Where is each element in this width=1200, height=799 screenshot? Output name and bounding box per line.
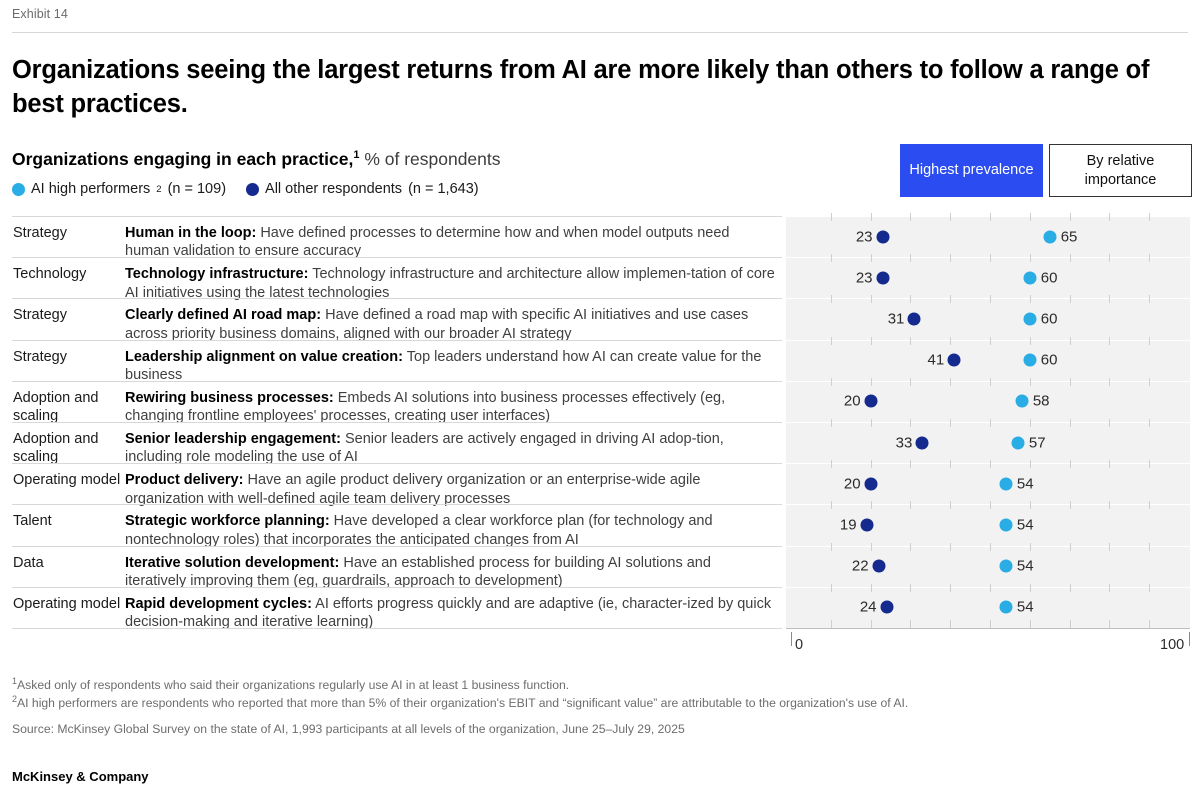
- chart-gridline-tick: [1070, 295, 1071, 303]
- chart-gridline-tick: [950, 254, 951, 262]
- subtitle-rest: % of respondents: [359, 149, 500, 169]
- source-line: Source: McKinsey Global Survey on the st…: [12, 722, 685, 736]
- dot-value-ai-high-performers: 60: [1041, 352, 1058, 369]
- legend-ai-high-performers: AI high performers2 (n = 109): [12, 181, 226, 197]
- chart-gridline-tick: [910, 501, 911, 509]
- row-practice-title: Human in the loop:: [125, 225, 256, 241]
- chart-gridline-tick: [910, 254, 911, 262]
- chart-gridline-tick: [1109, 584, 1110, 592]
- chart-gridline-tick: [871, 295, 872, 303]
- chart-gridline-tick: [1109, 501, 1110, 509]
- chart-gridline-tick: [950, 584, 951, 592]
- dot-value-all-other-respondents: 19: [797, 517, 857, 534]
- dot-value-ai-high-performers: 65: [1061, 228, 1078, 245]
- row-practice-title: Senior leadership engagement:: [125, 431, 341, 447]
- row-practice-title: Strategic workforce planning:: [125, 513, 330, 529]
- row-practice-title: Leadership alignment on value creation:: [125, 349, 403, 365]
- table-row[interactable]: Adoption and scalingSenior leadership en…: [12, 422, 782, 463]
- dot-ai-high-performers[interactable]: [1023, 313, 1036, 326]
- row-description: Senior leadership engagement: Senior lea…: [125, 430, 782, 467]
- chart-gridline-tick: [910, 378, 911, 386]
- dot-ai-high-performers[interactable]: [999, 519, 1012, 532]
- chart-gridline-tick: [1149, 584, 1150, 592]
- view-toggle-group: Highest prevalence By relative importanc…: [900, 144, 1192, 197]
- chart-gridline-tick: [1030, 584, 1031, 592]
- chart-gridline-tick: [871, 378, 872, 386]
- chart-gridline-tick: [1109, 337, 1110, 345]
- dot-all-other-respondents[interactable]: [908, 313, 921, 326]
- chart-gridline-tick: [831, 378, 832, 386]
- dot-ai-high-performers[interactable]: [999, 560, 1012, 573]
- dot-value-all-other-respondents: 23: [813, 228, 873, 245]
- chart-gridline-tick: [831, 213, 832, 221]
- dot-all-other-respondents[interactable]: [864, 395, 877, 408]
- row-category: Technology: [12, 265, 125, 283]
- footnote-1: 1Asked only of respondents who said thei…: [12, 676, 1182, 692]
- dot-all-other-respondents[interactable]: [860, 519, 873, 532]
- chart-gridline-tick: [950, 295, 951, 303]
- chart-gridline-tick: [990, 378, 991, 386]
- legend-label-high-performers: AI high performers: [31, 181, 150, 197]
- axis-tick: [1030, 620, 1031, 628]
- chart-row: [786, 422, 1190, 463]
- table-bottom-divider: [12, 628, 782, 629]
- chart-gridline-tick: [871, 337, 872, 345]
- chart-gridline-tick: [950, 337, 951, 345]
- dot-all-other-respondents[interactable]: [872, 560, 885, 573]
- row-category: Strategy: [12, 348, 125, 366]
- axis-tick: [1109, 620, 1110, 628]
- axis-label-min: 0: [795, 637, 803, 653]
- header-divider: [12, 32, 1188, 33]
- row-description: Strategic workforce planning: Have devel…: [125, 512, 782, 549]
- footnotes: 1Asked only of respondents who said thei…: [12, 676, 1182, 713]
- chart-gridline-tick: [871, 460, 872, 468]
- chart-gridline-tick: [871, 254, 872, 262]
- footnote-2-text: AI high performers are respondents who r…: [17, 697, 908, 711]
- chart-gridline-tick: [871, 584, 872, 592]
- row-description: Product delivery: Have an agile product …: [125, 471, 782, 508]
- legend-count-high-performers: (n = 109): [168, 181, 226, 197]
- dot-value-ai-high-performers: 54: [1017, 599, 1034, 616]
- chart-gridline-tick: [1070, 501, 1071, 509]
- table-row[interactable]: StrategyLeadership alignment on value cr…: [12, 340, 782, 381]
- dot-value-ai-high-performers: 54: [1017, 475, 1034, 492]
- dot-ai-high-performers[interactable]: [1043, 230, 1056, 243]
- dot-value-all-other-respondents: 22: [809, 558, 869, 575]
- axis-tick: [1149, 620, 1150, 628]
- chart-gridline-tick: [1070, 543, 1071, 551]
- chart-gridline-tick: [1149, 419, 1150, 427]
- chart-gridline-tick: [990, 254, 991, 262]
- row-practice-title: Technology infrastructure:: [125, 266, 308, 282]
- chart-gridline-tick: [910, 419, 911, 427]
- row-description: Clearly defined AI road map: Have define…: [125, 306, 782, 343]
- axis-cap-max: [1189, 632, 1190, 646]
- row-category: Strategy: [12, 224, 125, 242]
- chart-gridline-tick: [950, 213, 951, 221]
- chart-gridline-tick: [1030, 295, 1031, 303]
- axis-cap-min: [791, 632, 792, 646]
- row-description: Iterative solution development: Have an …: [125, 554, 782, 591]
- row-category: Operating model: [12, 471, 125, 489]
- axis-label-max: 100: [1160, 637, 1184, 653]
- chart-gridline-tick: [1149, 213, 1150, 221]
- chart-gridline-tick: [831, 501, 832, 509]
- dot-ai-high-performers[interactable]: [1015, 395, 1028, 408]
- row-description: Leadership alignment on value creation: …: [125, 348, 782, 385]
- dot-ai-high-performers[interactable]: [999, 601, 1012, 614]
- row-category: Adoption and scaling: [12, 389, 125, 426]
- chart-legend: AI high performers2 (n = 109) All other …: [12, 181, 479, 197]
- chart-gridline-tick: [990, 337, 991, 345]
- chart-gridline-tick: [831, 419, 832, 427]
- chart-gridline-tick: [1070, 419, 1071, 427]
- table-row[interactable]: Adoption and scalingRewiring business pr…: [12, 381, 782, 422]
- chart-gridline-tick: [831, 254, 832, 262]
- row-description: Rewiring business processes: Embeds AI s…: [125, 389, 782, 426]
- footnote-1-text: Asked only of respondents who said their…: [17, 678, 569, 692]
- chart-gridline-tick: [1030, 419, 1031, 427]
- chart-gridline-tick: [990, 460, 991, 468]
- dot-plot-chart: 2365236031604160205833572054195422542454: [786, 216, 1190, 628]
- dot-all-other-respondents[interactable]: [876, 271, 889, 284]
- chart-gridline-tick: [1149, 460, 1150, 468]
- chart-gridline-tick: [1149, 254, 1150, 262]
- legend-all-other-respondents: All other respondents (n = 1,643): [246, 181, 479, 197]
- dot-all-other-respondents[interactable]: [880, 601, 893, 614]
- row-category: Adoption and scaling: [12, 430, 125, 467]
- axis-tick: [831, 620, 832, 628]
- toggle-highest-prevalence[interactable]: Highest prevalence: [900, 144, 1043, 197]
- chart-gridline-tick: [831, 543, 832, 551]
- row-category: Data: [12, 554, 125, 572]
- row-practice-title: Iterative solution development:: [125, 555, 339, 571]
- chart-gridline-tick: [1109, 213, 1110, 221]
- dot-value-all-other-respondents: 24: [817, 599, 877, 616]
- dot-all-other-respondents[interactable]: [916, 436, 929, 449]
- chart-gridline-tick: [1109, 460, 1110, 468]
- dot-value-ai-high-performers: 54: [1017, 558, 1034, 575]
- dot-value-all-other-respondents: 20: [801, 393, 861, 410]
- dot-all-other-respondents[interactable]: [948, 354, 961, 367]
- dot-value-all-other-respondents: 31: [844, 311, 904, 328]
- legend-label-all-others: All other respondents: [265, 181, 402, 197]
- row-description: Human in the loop: Have defined processe…: [125, 224, 782, 261]
- toggle-by-relative-importance[interactable]: By relative importance: [1049, 144, 1192, 197]
- chart-gridline-tick: [990, 213, 991, 221]
- axis-tick: [1070, 620, 1071, 628]
- chart-gridline-tick: [1109, 543, 1110, 551]
- chart-gridline-tick: [1030, 254, 1031, 262]
- exhibit-body: StrategyHuman in the loop: Have defined …: [0, 216, 1200, 628]
- row-practice-title: Rapid development cycles:: [125, 596, 312, 612]
- chart-subtitle: Organizations engaging in each practice,…: [12, 149, 501, 170]
- legend-dot-icon-all-others: [246, 183, 259, 196]
- chart-gridline-tick: [950, 419, 951, 427]
- row-description: Technology infrastructure: Technology in…: [125, 265, 782, 302]
- chart-gridline-tick: [910, 213, 911, 221]
- table-row[interactable]: Operating modelProduct delivery: Have an…: [12, 463, 782, 504]
- chart-gridline-tick: [871, 419, 872, 427]
- chart-gridline-tick: [1030, 337, 1031, 345]
- row-practice-title: Product delivery:: [125, 472, 243, 488]
- legend-dot-icon-high-performers: [12, 183, 25, 196]
- dot-value-all-other-respondents: 41: [884, 352, 944, 369]
- chart-gridline-tick: [1030, 501, 1031, 509]
- chart-gridline-tick: [1030, 460, 1031, 468]
- exhibit-label: Exhibit 14: [12, 7, 68, 21]
- chart-gridline-tick: [1109, 295, 1110, 303]
- dot-ai-high-performers[interactable]: [1023, 354, 1036, 367]
- chart-gridline-tick: [990, 295, 991, 303]
- row-description: Rapid development cycles: AI efforts pro…: [125, 595, 782, 632]
- chart-gridline-tick: [1070, 337, 1071, 345]
- chart-gridline-tick: [1149, 543, 1150, 551]
- chart-gridline-tick: [990, 584, 991, 592]
- chart-gridline-tick: [1030, 378, 1031, 386]
- chart-gridline-tick: [990, 501, 991, 509]
- chart-gridline-tick: [871, 213, 872, 221]
- chart-gridline-tick: [1070, 254, 1071, 262]
- legend-footnote-marker: 2: [156, 184, 161, 195]
- chart-gridline-tick: [1109, 378, 1110, 386]
- table-row[interactable]: DataIterative solution development: Have…: [12, 546, 782, 587]
- footnote-2: 2AI high performers are respondents who …: [12, 694, 1182, 710]
- mckinsey-logo: McKinsey & Company: [12, 769, 149, 784]
- table-row[interactable]: Operating modelRapid development cycles:…: [12, 587, 782, 628]
- dot-value-ai-high-performers: 58: [1033, 393, 1050, 410]
- row-practice-title: Clearly defined AI road map:: [125, 307, 321, 323]
- chart-gridline-tick: [831, 337, 832, 345]
- dot-value-all-other-respondents: 33: [852, 434, 912, 451]
- dot-value-ai-high-performers: 54: [1017, 517, 1034, 534]
- chart-gridline-tick: [831, 295, 832, 303]
- row-category: Operating model: [12, 595, 125, 613]
- axis-tick: [990, 620, 991, 628]
- chart-gridline-tick: [1030, 213, 1031, 221]
- legend-count-all-others: (n = 1,643): [408, 181, 479, 197]
- chart-gridline-tick: [910, 460, 911, 468]
- chart-gridline-tick: [831, 460, 832, 468]
- axis-tick: [910, 620, 911, 628]
- axis-tick: [871, 620, 872, 628]
- dot-ai-high-performers[interactable]: [1023, 271, 1036, 284]
- chart-gridline-tick: [990, 543, 991, 551]
- chart-axis-line: [786, 628, 1190, 629]
- table-row[interactable]: TechnologyTechnology infrastructure: Tec…: [12, 257, 782, 298]
- chart-gridline-tick: [1149, 337, 1150, 345]
- chart-gridline-tick: [910, 337, 911, 345]
- dot-value-ai-high-performers: 57: [1029, 434, 1046, 451]
- chart-gridline-tick: [1070, 460, 1071, 468]
- row-practice-title: Rewiring business processes:: [125, 390, 334, 406]
- dot-value-all-other-respondents: 20: [801, 475, 861, 492]
- chart-gridline-tick: [1070, 584, 1071, 592]
- practices-table: StrategyHuman in the loop: Have defined …: [12, 216, 782, 628]
- chart-gridline-tick: [1149, 295, 1150, 303]
- page-title: Organizations seeing the largest returns…: [12, 54, 1182, 122]
- chart-gridline-tick: [871, 501, 872, 509]
- dot-all-other-respondents[interactable]: [864, 477, 877, 490]
- dot-ai-high-performers[interactable]: [999, 477, 1012, 490]
- chart-gridline-tick: [871, 543, 872, 551]
- table-row[interactable]: StrategyHuman in the loop: Have defined …: [12, 216, 782, 257]
- row-category: Talent: [12, 512, 125, 530]
- chart-gridline-tick: [990, 419, 991, 427]
- dot-value-ai-high-performers: 60: [1041, 269, 1058, 286]
- subtitle-bold: Organizations engaging in each practice,: [12, 149, 353, 169]
- chart-gridline-tick: [910, 543, 911, 551]
- dot-all-other-respondents[interactable]: [876, 230, 889, 243]
- axis-tick: [950, 620, 951, 628]
- chart-gridline-tick: [1149, 378, 1150, 386]
- chart-gridline-tick: [950, 543, 951, 551]
- dot-value-ai-high-performers: 60: [1041, 311, 1058, 328]
- row-category: Strategy: [12, 306, 125, 324]
- chart-gridline-tick: [910, 584, 911, 592]
- chart-gridline-tick: [1030, 543, 1031, 551]
- dot-ai-high-performers[interactable]: [1011, 436, 1024, 449]
- table-row[interactable]: StrategyClearly defined AI road map: Hav…: [12, 298, 782, 339]
- chart-gridline-tick: [831, 584, 832, 592]
- chart-gridline-tick: [1070, 213, 1071, 221]
- chart-gridline-tick: [910, 295, 911, 303]
- chart-gridline-tick: [950, 378, 951, 386]
- chart-gridline-tick: [1149, 501, 1150, 509]
- table-row[interactable]: TalentStrategic workforce planning: Have…: [12, 504, 782, 545]
- chart-gridline-tick: [1109, 419, 1110, 427]
- dot-value-all-other-respondents: 23: [813, 269, 873, 286]
- chart-gridline-tick: [950, 501, 951, 509]
- chart-gridline-tick: [1070, 378, 1071, 386]
- chart-gridline-tick: [1109, 254, 1110, 262]
- chart-row: [786, 340, 1190, 381]
- chart-gridline-tick: [950, 460, 951, 468]
